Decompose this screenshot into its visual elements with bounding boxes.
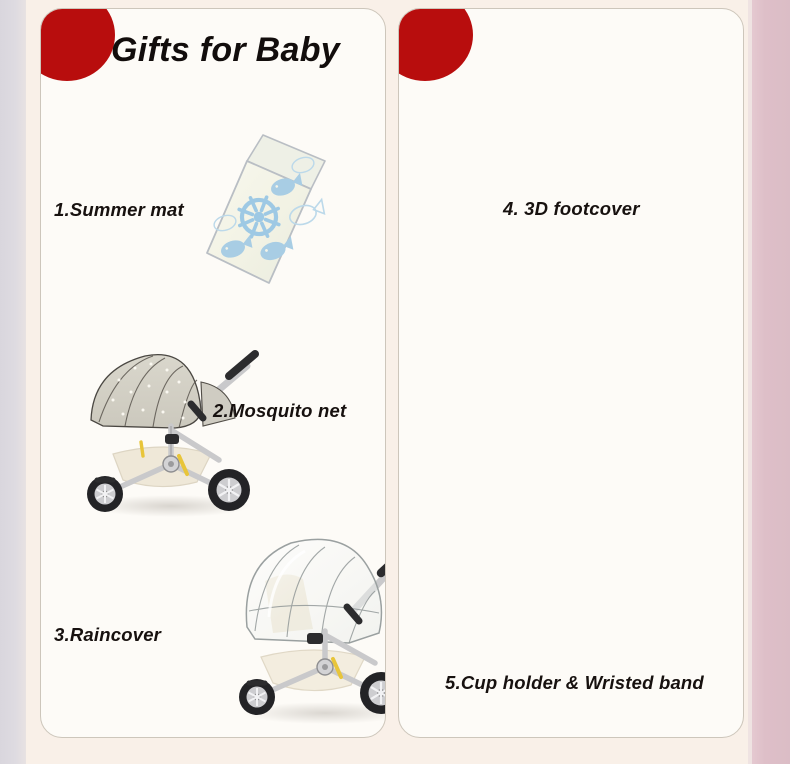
art-stroller-raincover <box>229 507 386 727</box>
item-label-cupholder-wristband: 5.Cup holder & Wristed band <box>445 672 704 694</box>
item-label-mosquito-net: 2.Mosquito net <box>213 400 346 422</box>
art-summer-mat <box>199 131 331 291</box>
item-label-summer-mat: 1.Summer mat <box>54 199 184 221</box>
product-infographic: Gifts for Baby <box>0 0 790 764</box>
panel-gifts-right: 4. 3D footcover <box>398 8 744 738</box>
panel-gifts-left: Gifts for Baby <box>40 8 386 738</box>
page-edge-left <box>0 0 26 764</box>
page-title: Gifts for Baby <box>111 31 340 70</box>
item-label-raincover: 3.Raincover <box>54 624 161 646</box>
page-edge-right <box>748 0 790 764</box>
item-label-footcover: 4. 3D footcover <box>503 198 640 220</box>
accent-circle-icon-right <box>398 8 473 81</box>
accent-circle-icon <box>40 8 115 81</box>
